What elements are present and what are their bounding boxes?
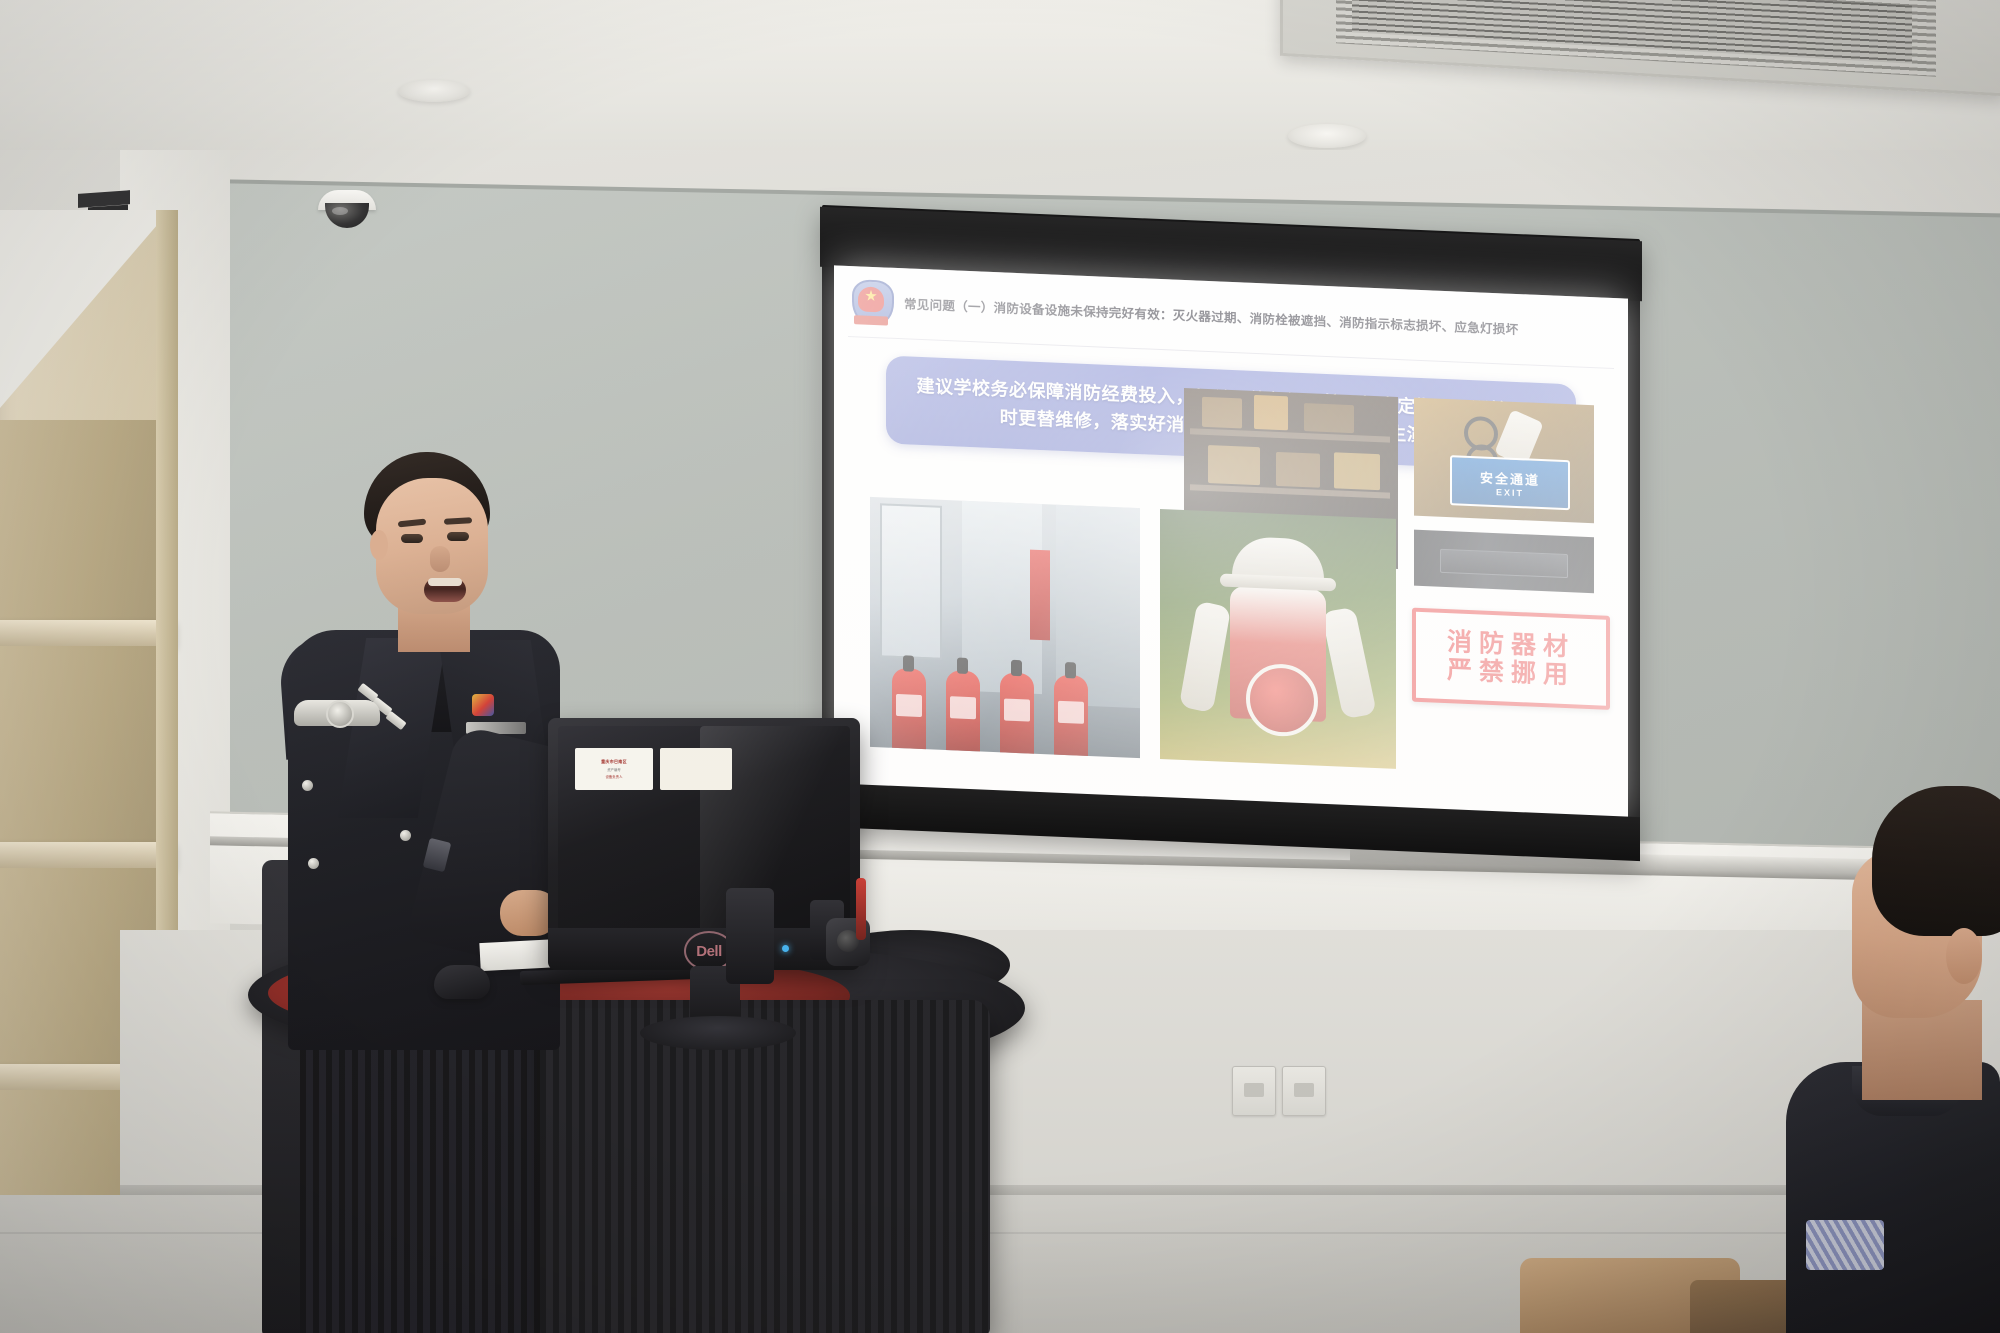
emblem-base — [854, 315, 888, 325]
shelf-cavity — [0, 646, 164, 846]
computer-mouse[interactable] — [434, 965, 490, 999]
fire-extinguisher-icon — [1054, 675, 1088, 759]
exit-sign-english: EXIT — [1496, 487, 1524, 498]
podium-body-left — [300, 1010, 550, 1333]
presenter-eye — [401, 534, 423, 543]
shelf-board — [0, 620, 176, 646]
wing-badge-center — [326, 700, 354, 728]
audience-sleeve-patch — [1806, 1220, 1884, 1270]
monitor-blank-label — [660, 748, 732, 790]
fire-hose-cabinet — [1030, 550, 1050, 641]
camera-dome — [325, 203, 369, 228]
warning-sign: 消防器材 严禁挪用 — [1412, 608, 1610, 710]
equipment-label — [1440, 549, 1568, 578]
monitor-asset-label: 重庆市巴南区 资产编号 设备负责人 — [575, 748, 653, 790]
shelf-item — [1276, 452, 1320, 488]
shelf-cavity — [0, 420, 164, 630]
chest-badge-icon — [472, 694, 494, 716]
warning-sign-line-2: 严禁挪用 — [1447, 657, 1575, 689]
power-outlet[interactable] — [1232, 1066, 1276, 1116]
uniform-button — [400, 830, 411, 841]
audience-ear — [1946, 928, 1982, 984]
shelf-item — [1208, 445, 1260, 485]
power-outlet[interactable] — [1282, 1066, 1326, 1116]
asset-label-org: 重庆市巴南区 — [601, 759, 627, 765]
photo-dark-equipment — [1414, 530, 1594, 594]
monitor-power-led[interactable] — [782, 945, 789, 952]
presenter-eye — [447, 532, 469, 541]
recessed-ceiling-light — [398, 80, 470, 102]
shelf-item — [1254, 395, 1288, 430]
desktop-speaker[interactable] — [726, 888, 774, 984]
firefighter-arm — [1321, 607, 1377, 719]
shelf-row — [1190, 428, 1390, 442]
podium-body-right — [540, 1000, 990, 1333]
shelf-item — [1334, 452, 1380, 490]
dome-camera-icon — [318, 190, 376, 228]
corridor-door — [880, 503, 942, 660]
asset-label-line3: 设备负责人 — [606, 774, 623, 779]
firefighter-arm — [1179, 600, 1231, 713]
presenter-ear — [370, 530, 388, 560]
exit-sign-chinese: 安全通道 — [1480, 467, 1540, 489]
asset-label-line2: 资产编号 — [607, 767, 621, 772]
presentation-slide: 常见问题（一）消防设备设施未保持完好有效：灭火器过期、消防栓被遮挡、消防指示标志… — [834, 265, 1628, 818]
shelf-item — [1304, 403, 1354, 433]
dell-logo-text: Dell — [696, 943, 722, 960]
police-emblem-icon — [848, 277, 894, 329]
red-marker-pen[interactable] — [856, 878, 866, 940]
recessed-ceiling-light — [1288, 124, 1366, 148]
photo-exit-sign: 安全通道 EXIT — [1414, 398, 1594, 524]
screenshot-root: 常见问题（一）消防设备设施未保持完好有效：灭火器过期、消防栓被遮挡、消防指示标志… — [0, 0, 2000, 1333]
fire-extinguisher-icon — [1000, 672, 1034, 758]
slide-header-text: 常见问题（一）消防设备设施未保持完好有效：灭火器过期、消防栓被遮挡、消防指示标志… — [904, 295, 1614, 343]
photo-firefighter-drill — [1160, 509, 1396, 769]
uniform-button — [308, 858, 319, 869]
fire-extinguisher-icon — [946, 670, 980, 757]
exit-sign-plate: 安全通道 EXIT — [1450, 455, 1570, 510]
uniform-button — [302, 780, 313, 791]
shelf-item — [1202, 397, 1242, 429]
audience-hair — [1872, 786, 2000, 936]
presenter-nose — [430, 546, 450, 572]
photo-corridor-fire-extinguishers — [870, 497, 1140, 758]
shelf-board — [0, 842, 176, 868]
presenter-teeth — [428, 578, 462, 586]
monitor-stand-base — [640, 1016, 796, 1050]
fire-extinguisher-icon — [892, 668, 926, 755]
